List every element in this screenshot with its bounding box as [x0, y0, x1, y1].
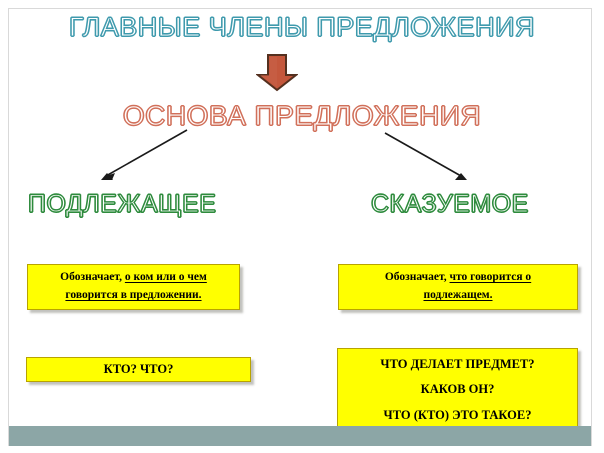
diagonal-arrow-right-icon — [382, 130, 472, 184]
subject-questions-box: КТО? ЧТО? — [26, 357, 251, 382]
predicate-question-item: КАКОВ ОН? — [421, 377, 495, 403]
predicate-definition-line-2: подлежащем. — [423, 287, 492, 305]
page-title: ГЛАВНЫЕ ЧЛЕНЫ ПРЕДЛОЖЕНИЯ — [0, 14, 604, 41]
subject-definition-emphasis-2: говорится в предложении. — [65, 289, 201, 301]
subject-definition-prefix: Обозначает, — [60, 271, 122, 283]
predicate-definition-prefix: Обозначает, — [385, 271, 447, 283]
predicate-definition-emphasis-2: подлежащем. — [423, 289, 492, 301]
heading-predicate: СКАЗУЕМОЕ — [371, 192, 529, 217]
down-arrow-icon — [256, 54, 298, 92]
slide-screenshot: ГЛАВНЫЕ ЧЛЕНЫ ПРЕДЛОЖЕНИЯ ОСНОВА ПРЕДЛОЖ… — [0, 0, 604, 453]
subject-definition-line-2: говорится в предложении. — [65, 287, 201, 305]
predicate-definition-emphasis-1: что говорится о — [450, 271, 532, 283]
subject-question-item: КТО? ЧТО? — [104, 362, 174, 377]
subject-definition-line-1: Обозначает, о ком или о чем — [60, 269, 207, 287]
footer-band — [9, 426, 591, 446]
heading-subject: ПОДЛЕЖАЩЕЕ — [28, 192, 216, 217]
predicate-definition-line-1: Обозначает, что говорится о — [385, 269, 531, 287]
diagonal-arrow-left-icon — [95, 128, 190, 184]
predicate-question-item: ЧТО (КТО) ЭТО ТАКОЕ? — [384, 403, 532, 429]
predicate-questions-box: ЧТО ДЕЛАЕТ ПРЕДМЕТ? КАКОВ ОН? ЧТО (КТО) … — [337, 348, 578, 432]
subtitle-sentence-base: ОСНОВА ПРЕДЛОЖЕНИЯ — [0, 102, 604, 130]
subject-definition-emphasis-1: о ком или о чем — [125, 271, 207, 283]
subject-definition-box: Обозначает, о ком или о чем говорится в … — [27, 264, 240, 310]
predicate-definition-box: Обозначает, что говорится о подлежащем. — [338, 264, 578, 310]
predicate-question-item: ЧТО ДЕЛАЕТ ПРЕДМЕТ? — [380, 352, 534, 378]
